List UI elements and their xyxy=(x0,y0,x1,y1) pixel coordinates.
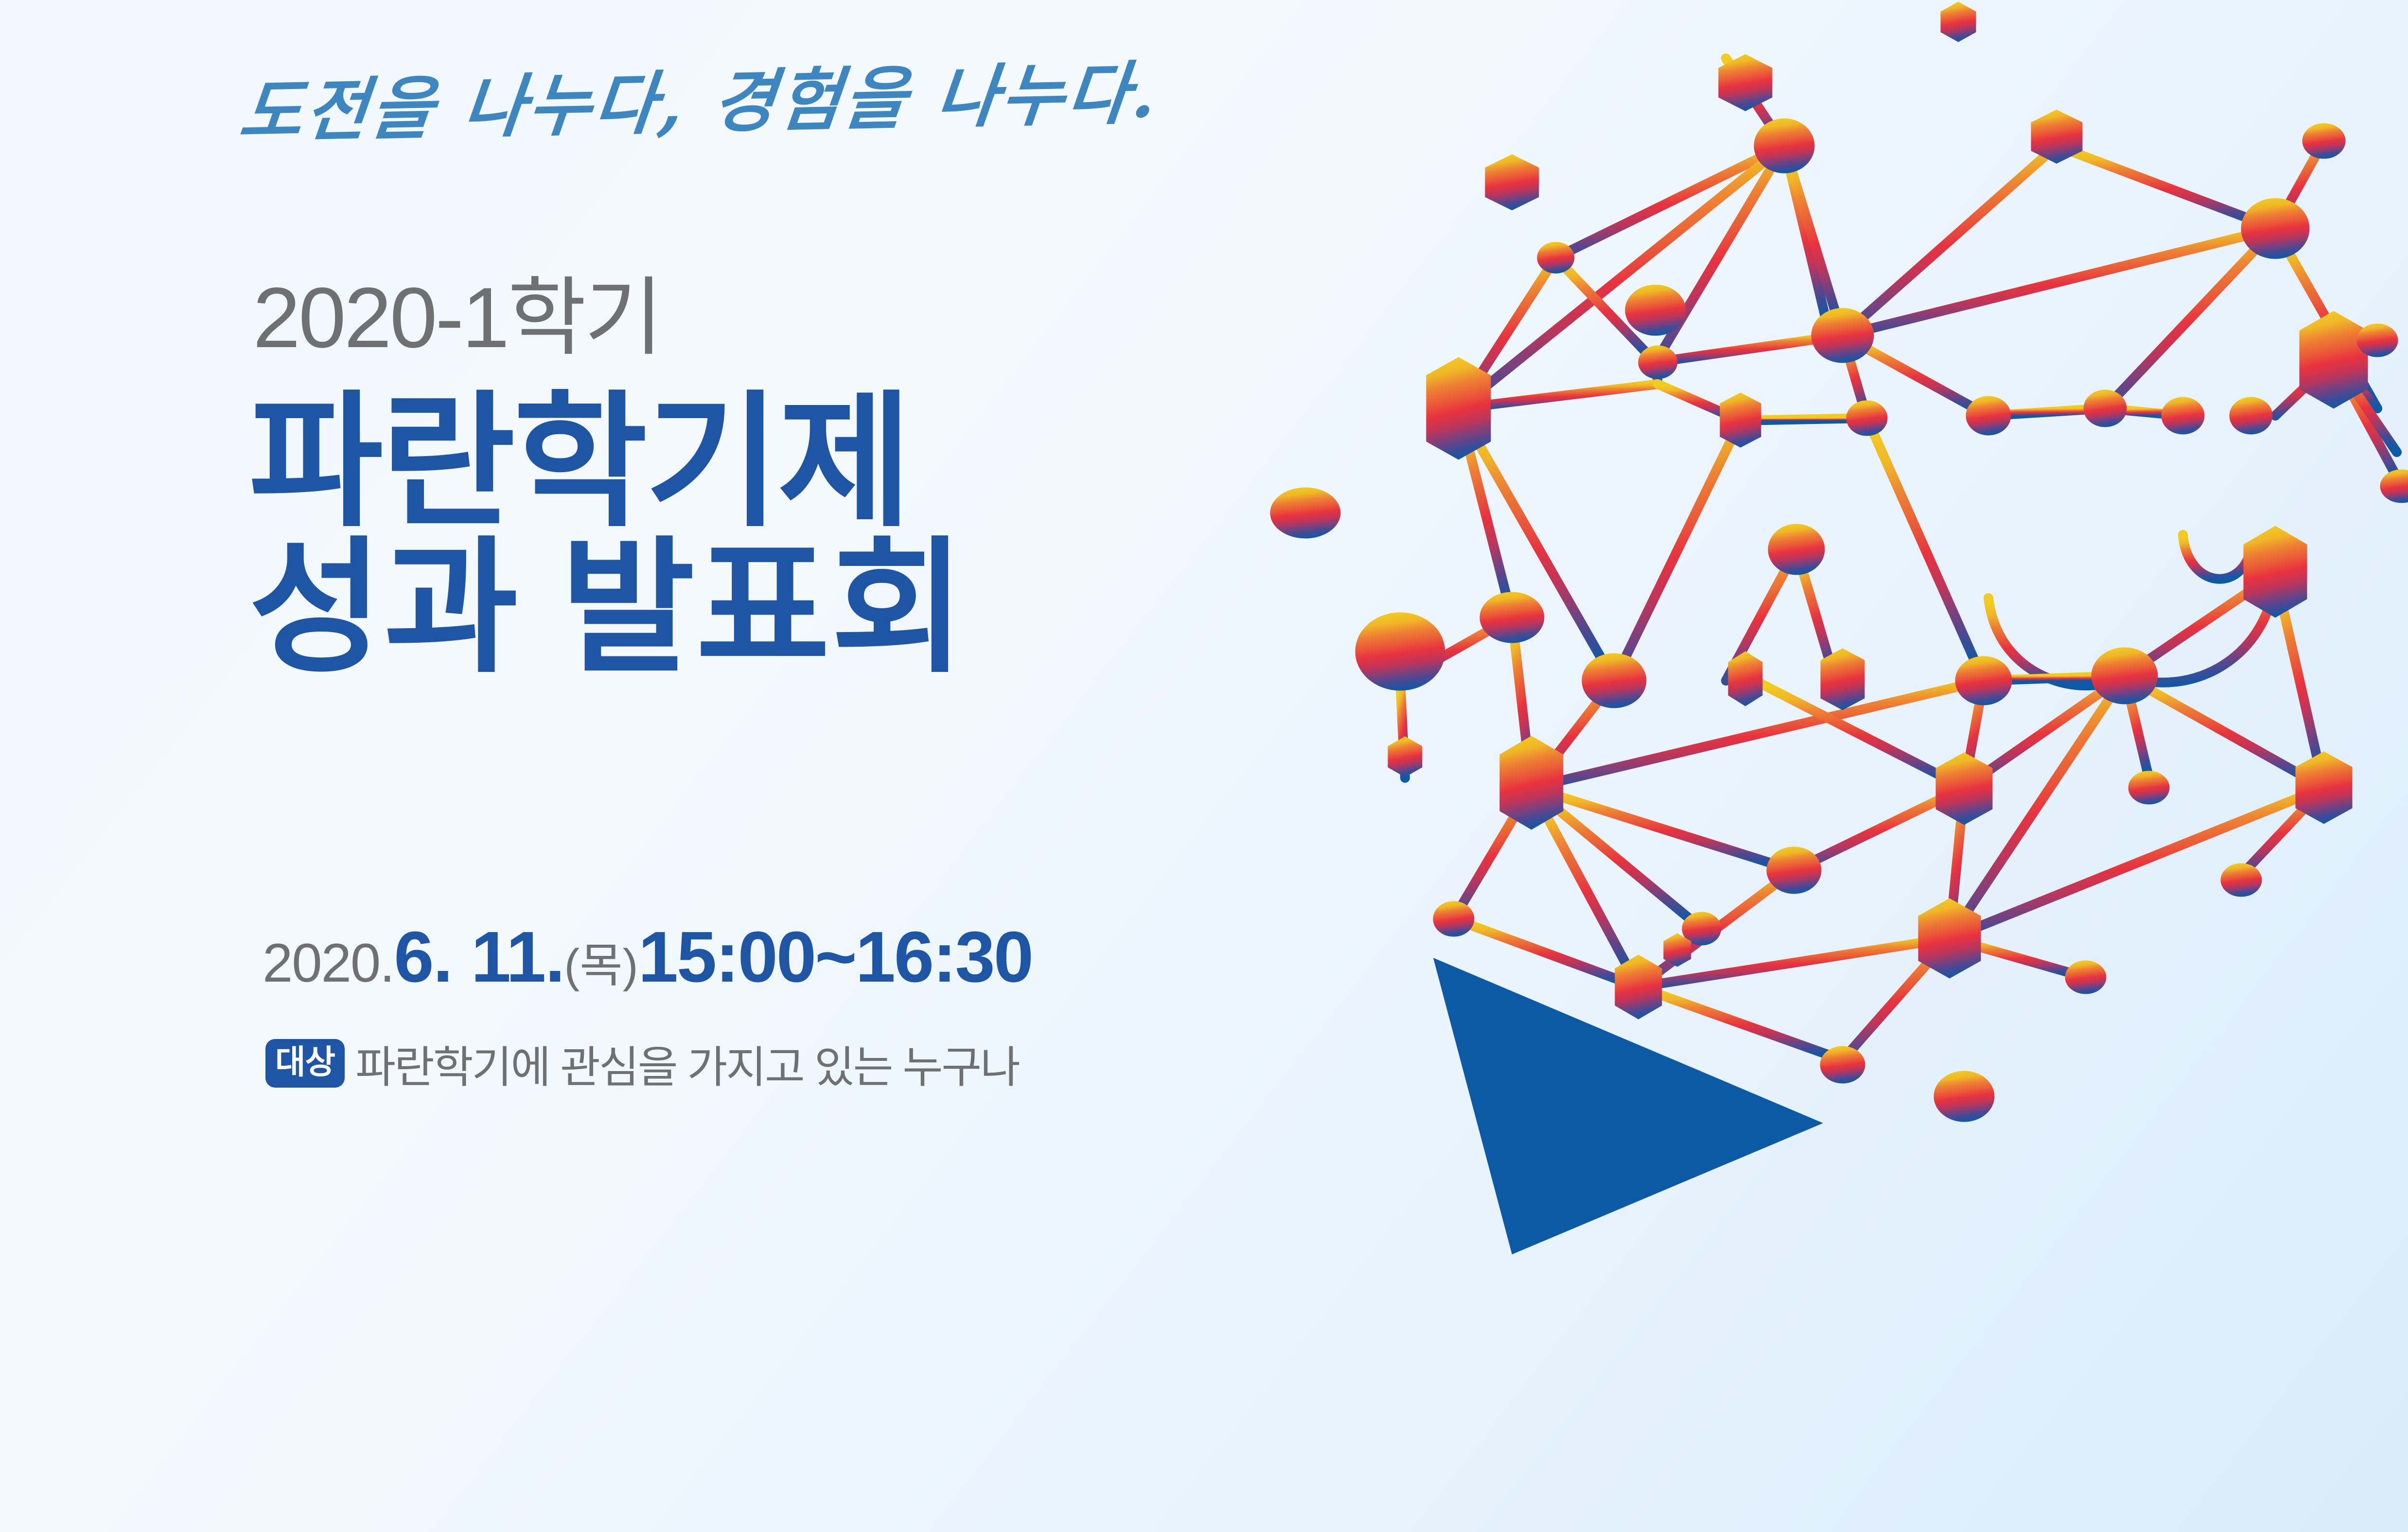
event-month-day: 6. 11. xyxy=(394,917,564,997)
node-dot xyxy=(1582,653,1646,708)
node-dot xyxy=(1433,901,1474,936)
node-dot xyxy=(2303,123,2345,158)
node-dot xyxy=(2241,198,2309,259)
node-dot xyxy=(1767,847,1821,894)
event-datetime: 2020.6. 11.(목)15:00~16:30 xyxy=(263,921,1032,993)
node-dot xyxy=(2065,961,2106,994)
tagline: 도전을 나누다, 경험을 나누다. xyxy=(235,37,1217,156)
node-dot xyxy=(1270,488,1340,538)
node-dot xyxy=(1625,285,1686,335)
node-dot xyxy=(2380,470,2408,503)
audience-description: 파란학기에 관심을 가지고 있는 누구나 xyxy=(355,1032,1019,1095)
audience-row: 대상 파란학기에 관심을 가지고 있는 누구나 xyxy=(265,1032,1019,1095)
hex-node xyxy=(1936,753,1992,825)
hex-node xyxy=(2296,752,2352,824)
hex-node xyxy=(2244,526,2307,617)
node-dot xyxy=(1811,308,1874,363)
node-dot xyxy=(2357,324,2398,357)
node-dot xyxy=(1846,401,1887,436)
node-dot xyxy=(2162,397,2204,434)
title-line-1: 파란학기제 xyxy=(249,389,1197,535)
hex-node xyxy=(1821,649,1864,710)
hex-node xyxy=(1426,357,1491,459)
node-dot xyxy=(2092,648,2158,704)
network-graphic xyxy=(1240,0,2408,1532)
network-nodes-illustration xyxy=(1240,0,2408,1532)
semester-label: 2020-1학기 xyxy=(253,248,661,372)
hex-node xyxy=(1728,652,1762,706)
event-year: 2020. xyxy=(263,933,394,993)
hex-node xyxy=(1388,737,1422,777)
node-dot xyxy=(2221,863,2262,897)
status-badge: 대상 xyxy=(265,1039,345,1088)
poster-text-block: 도전을 나누다, 경험을 나누다. 2020-1학기 파란학기제 성과 발표회 … xyxy=(0,0,1245,1532)
hex-node xyxy=(1615,955,1662,1019)
hex-node xyxy=(1941,2,1976,42)
page-title: 파란학기제 성과 발표회 xyxy=(249,389,1197,681)
node-dot xyxy=(1754,119,1814,173)
node-dot xyxy=(1820,1046,1865,1083)
event-time: 15:00~16:30 xyxy=(638,917,1032,997)
title-line-2: 성과 발표회 xyxy=(249,535,1197,681)
node-dot xyxy=(2128,771,2169,804)
node-dot xyxy=(1638,346,1677,379)
hex-node xyxy=(1720,393,1761,447)
node-dot xyxy=(2084,390,2127,427)
hex-node xyxy=(2300,311,2368,408)
hex-node xyxy=(1500,736,1563,829)
hex-node xyxy=(1485,155,1539,210)
node-dot xyxy=(1355,613,1445,690)
event-weekday: (목) xyxy=(564,940,638,992)
node-dot xyxy=(1955,656,2012,705)
node-dot xyxy=(2230,397,2272,434)
node-dot xyxy=(1480,592,1544,643)
node-dot xyxy=(1934,1071,1994,1122)
node-dot xyxy=(1537,242,1574,273)
node-dot xyxy=(1966,396,2011,435)
node-dot xyxy=(1768,524,1825,575)
